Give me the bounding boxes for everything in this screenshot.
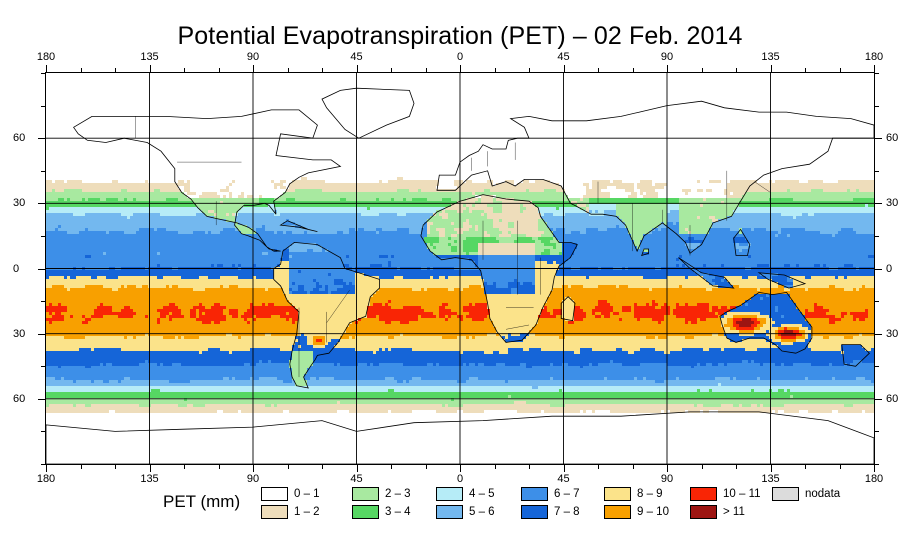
axis-tick bbox=[529, 465, 530, 469]
legend-label: 4 – 5 bbox=[469, 487, 495, 501]
axis-tick bbox=[38, 269, 45, 270]
legend-label: 9 – 10 bbox=[637, 505, 669, 519]
axis-tick bbox=[253, 65, 254, 72]
axis-tick bbox=[564, 465, 565, 472]
legend-swatch bbox=[772, 487, 799, 501]
axis-tick bbox=[426, 465, 427, 469]
axis-tick bbox=[38, 138, 45, 139]
axis-tick bbox=[115, 68, 116, 72]
legend-label: 5 – 6 bbox=[469, 505, 495, 519]
axis-tick bbox=[564, 65, 565, 72]
legend-swatch bbox=[690, 505, 717, 519]
legend-column: 10 – 11> 11 bbox=[690, 486, 761, 522]
axis-tick bbox=[426, 68, 427, 72]
x-axis-label-top: 180 bbox=[37, 51, 55, 63]
legend-label: nodata bbox=[805, 487, 840, 501]
axis-tick bbox=[495, 68, 496, 72]
axis-tick bbox=[219, 465, 220, 469]
axis-tick bbox=[840, 465, 841, 469]
legend-column: 6 – 77 – 8 bbox=[521, 486, 580, 522]
x-axis-label-top: 0 bbox=[457, 51, 463, 63]
y-axis-label-right: 30 bbox=[886, 328, 898, 340]
axis-tick bbox=[875, 236, 879, 237]
axis-tick bbox=[805, 68, 806, 72]
axis-tick bbox=[598, 68, 599, 72]
legend-entry[interactable]: 1 – 2 bbox=[261, 504, 320, 520]
y-axis-label-left: 60 bbox=[13, 393, 25, 405]
legend-label: 8 – 9 bbox=[637, 487, 663, 501]
y-axis-label-right: 60 bbox=[886, 132, 898, 144]
axis-tick bbox=[771, 65, 772, 72]
legend-swatch bbox=[436, 487, 463, 501]
legend-label: 10 – 11 bbox=[723, 487, 761, 501]
axis-tick bbox=[41, 171, 45, 172]
axis-tick bbox=[46, 465, 47, 472]
legend-label: 2 – 3 bbox=[385, 487, 411, 501]
axis-tick bbox=[81, 465, 82, 469]
legend-column: 2 – 33 – 4 bbox=[352, 486, 411, 522]
x-axis-label-top: 90 bbox=[247, 51, 259, 63]
axis-tick bbox=[288, 465, 289, 469]
axis-tick bbox=[875, 431, 879, 432]
x-axis-label-top: 135 bbox=[140, 51, 158, 63]
axis-tick bbox=[633, 465, 634, 469]
legend-label: 0 – 1 bbox=[294, 487, 320, 501]
axis-tick bbox=[38, 203, 45, 204]
axis-tick bbox=[736, 465, 737, 469]
x-axis-label-top: 45 bbox=[350, 51, 362, 63]
legend-swatch bbox=[604, 505, 631, 519]
axis-tick bbox=[41, 236, 45, 237]
axis-tick bbox=[322, 465, 323, 469]
page-title: Potential Evapotranspiration (PET) – 02 … bbox=[0, 22, 920, 51]
y-axis-label-right: 0 bbox=[886, 263, 892, 275]
legend-column: 0 – 11 – 2 bbox=[261, 486, 320, 522]
axis-tick bbox=[81, 68, 82, 72]
legend-entry[interactable]: > 11 bbox=[690, 504, 761, 520]
axis-tick bbox=[288, 68, 289, 72]
axis-tick bbox=[875, 366, 879, 367]
legend-entry[interactable]: 5 – 6 bbox=[436, 504, 495, 520]
y-axis-label-left: 0 bbox=[13, 263, 19, 275]
legend-swatch bbox=[436, 505, 463, 519]
axis-tick bbox=[38, 399, 45, 400]
axis-tick bbox=[150, 465, 151, 472]
axis-tick bbox=[41, 431, 45, 432]
x-axis-label-top: 135 bbox=[761, 51, 779, 63]
axis-tick bbox=[875, 138, 882, 139]
axis-tick bbox=[529, 68, 530, 72]
axis-tick bbox=[840, 68, 841, 72]
axis-tick bbox=[150, 65, 151, 72]
y-axis-label-left: 30 bbox=[13, 328, 25, 340]
legend-swatch bbox=[261, 487, 288, 501]
y-axis-label-left: 60 bbox=[13, 132, 25, 144]
axis-tick bbox=[460, 65, 461, 72]
axis-tick bbox=[219, 68, 220, 72]
axis-tick bbox=[875, 399, 882, 400]
legend-entry[interactable]: 8 – 9 bbox=[604, 486, 669, 502]
legend-label: 3 – 4 bbox=[385, 505, 411, 519]
axis-tick bbox=[805, 465, 806, 469]
axis-tick bbox=[875, 171, 879, 172]
axis-tick bbox=[495, 465, 496, 469]
legend-column: nodata bbox=[772, 486, 840, 504]
axis-tick bbox=[874, 65, 875, 72]
axis-tick bbox=[460, 465, 461, 472]
legend-entry[interactable]: 2 – 3 bbox=[352, 486, 411, 502]
axis-tick bbox=[41, 301, 45, 302]
axis-tick bbox=[391, 465, 392, 469]
axis-tick bbox=[46, 65, 47, 72]
legend-swatch bbox=[690, 487, 717, 501]
legend-swatch bbox=[521, 487, 548, 501]
axis-tick bbox=[598, 465, 599, 469]
legend-entry[interactable]: nodata bbox=[772, 486, 840, 502]
legend-label: 6 – 7 bbox=[554, 487, 580, 501]
axis-tick bbox=[875, 73, 879, 74]
axis-tick bbox=[115, 465, 116, 469]
y-axis-label-right: 30 bbox=[886, 197, 898, 209]
legend-swatch bbox=[261, 505, 288, 519]
axis-tick bbox=[875, 334, 882, 335]
axis-tick bbox=[875, 464, 879, 465]
axis-tick bbox=[875, 269, 882, 270]
y-axis-label-right: 60 bbox=[886, 393, 898, 405]
legend-column: 4 – 55 – 6 bbox=[436, 486, 495, 522]
axis-tick bbox=[633, 68, 634, 72]
map-plot-area[interactable] bbox=[45, 72, 875, 465]
axis-tick bbox=[702, 465, 703, 469]
pet-map-figure: Potential Evapotranspiration (PET) – 02 … bbox=[0, 0, 920, 539]
axis-tick bbox=[184, 68, 185, 72]
legend-entry[interactable]: 0 – 1 bbox=[261, 486, 320, 502]
pet-raster-layer bbox=[46, 73, 874, 464]
legend-entry[interactable]: 3 – 4 bbox=[352, 504, 411, 520]
axis-tick bbox=[736, 68, 737, 72]
axis-tick bbox=[391, 68, 392, 72]
axis-tick bbox=[322, 68, 323, 72]
axis-tick bbox=[875, 106, 879, 107]
axis-tick bbox=[253, 465, 254, 472]
legend-entry[interactable]: 7 – 8 bbox=[521, 504, 580, 520]
axis-tick bbox=[771, 465, 772, 472]
legend-entry[interactable]: 6 – 7 bbox=[521, 486, 580, 502]
legend: PET (mm) 0 – 11 – 22 – 33 – 44 – 55 – 66… bbox=[0, 484, 920, 530]
axis-tick bbox=[702, 68, 703, 72]
legend-swatch bbox=[604, 487, 631, 501]
legend-entry[interactable]: 10 – 11 bbox=[690, 486, 761, 502]
axis-tick bbox=[184, 465, 185, 469]
axis-tick bbox=[875, 301, 879, 302]
axis-tick bbox=[41, 73, 45, 74]
x-axis-label-top: 90 bbox=[661, 51, 673, 63]
legend-swatch bbox=[521, 505, 548, 519]
axis-tick bbox=[41, 464, 45, 465]
y-axis-label-left: 30 bbox=[13, 197, 25, 209]
legend-swatch bbox=[352, 487, 379, 501]
legend-label: 7 – 8 bbox=[554, 505, 580, 519]
axis-tick bbox=[41, 106, 45, 107]
legend-entry[interactable]: 9 – 10 bbox=[604, 504, 669, 520]
legend-label: 1 – 2 bbox=[294, 505, 320, 519]
axis-tick bbox=[38, 334, 45, 335]
legend-entry[interactable]: 4 – 5 bbox=[436, 486, 495, 502]
axis-tick bbox=[357, 65, 358, 72]
x-axis-label-top: 180 bbox=[865, 51, 883, 63]
axis-tick bbox=[875, 203, 882, 204]
axis-tick bbox=[667, 65, 668, 72]
legend-column: 8 – 99 – 10 bbox=[604, 486, 669, 522]
x-axis-label-top: 45 bbox=[557, 51, 569, 63]
legend-label: > 11 bbox=[723, 505, 745, 519]
legend-title: PET (mm) bbox=[163, 492, 240, 512]
axis-tick bbox=[357, 465, 358, 472]
axis-tick bbox=[667, 465, 668, 472]
axis-tick bbox=[41, 366, 45, 367]
axis-tick bbox=[874, 465, 875, 472]
legend-swatch bbox=[352, 505, 379, 519]
